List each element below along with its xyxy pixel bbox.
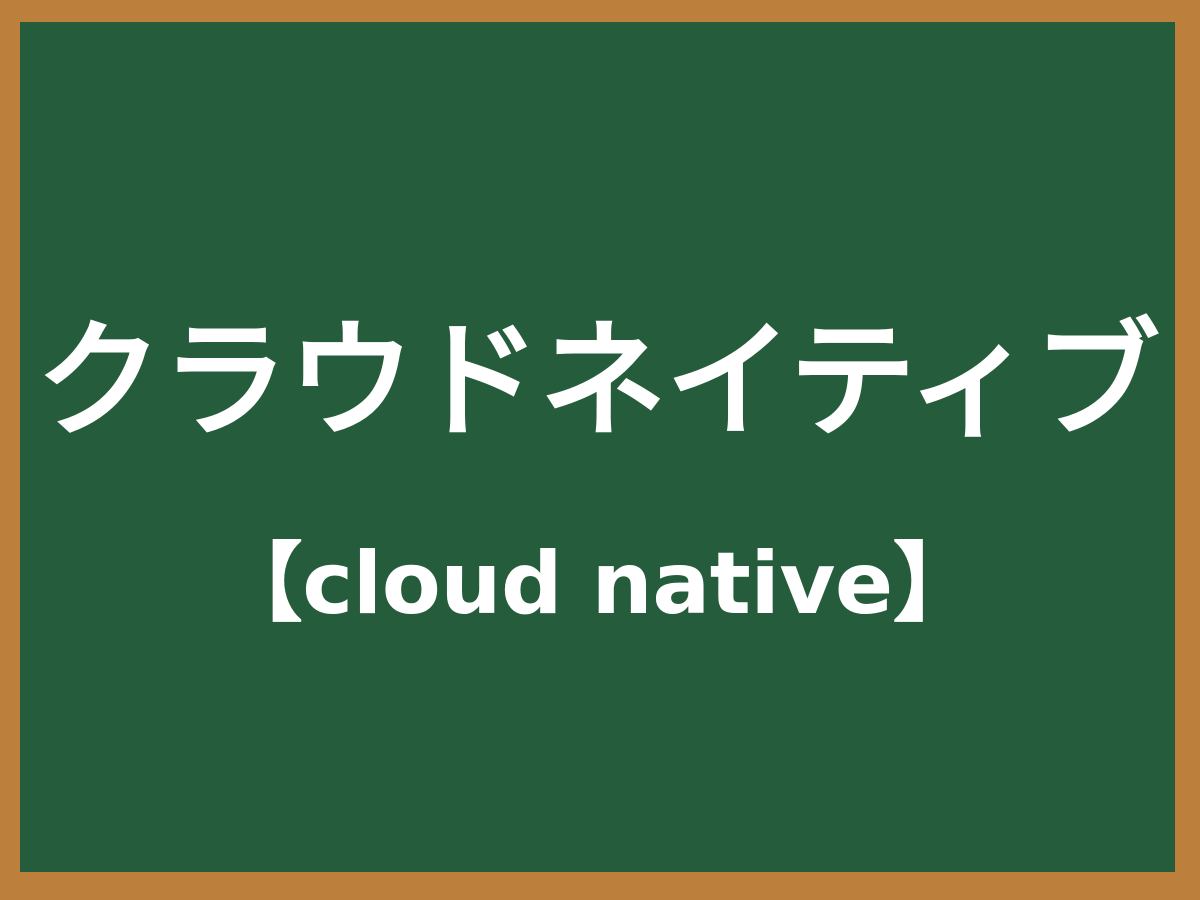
subtitle-block: 【cloud native】 bbox=[20, 535, 1175, 634]
term-title: クラウドネイティブ bbox=[36, 310, 1160, 452]
term-subtitle-english: 【cloud native】 bbox=[217, 535, 979, 634]
term-card: クラウドネイティブ 【cloud native】 bbox=[0, 0, 1200, 900]
title-block: クラウドネイティブ bbox=[20, 310, 1175, 452]
card-board: クラウドネイティブ 【cloud native】 bbox=[20, 22, 1175, 872]
